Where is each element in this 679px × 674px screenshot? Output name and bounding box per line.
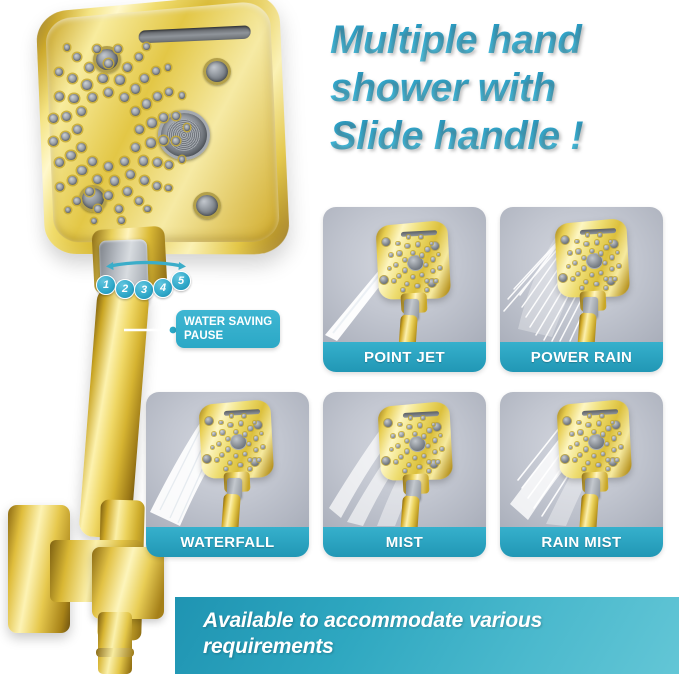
mini-nozzle-hole-icon (261, 445, 265, 449)
mini-nozzle-hole-icon (606, 426, 610, 430)
mini-nozzle-hole-icon (417, 465, 421, 469)
infographic-canvas: Multiple hand shower with Slide handle ! (0, 0, 679, 674)
mini-nozzle-hole-icon (427, 469, 431, 473)
headline-line-3: Slide handle ! (330, 112, 675, 160)
nozzle-hole-icon (118, 217, 125, 224)
mini-nozzle-hole-icon (389, 253, 393, 257)
nozzle-hole-icon (49, 137, 58, 146)
mini-nozzle-hole-icon (224, 467, 228, 471)
mini-nozzle-hole-icon (243, 432, 247, 436)
mini-nozzle-hole-icon (396, 242, 400, 246)
nozzle-hole-icon (165, 64, 172, 71)
nozzle-hole-icon (140, 74, 149, 83)
mode-card-mist[interactable]: MIST (323, 392, 486, 557)
mini-nozzle-hole-icon (392, 279, 396, 283)
mini-nozzle-hole-icon (242, 414, 246, 418)
water-saving-pause-label: WATER SAVING PAUSE (176, 310, 280, 348)
nozzle-hole-icon (172, 112, 180, 120)
nozzle-hole-icon (68, 176, 77, 185)
mini-nozzle-hole-icon (600, 414, 604, 418)
nozzle-hole-icon (64, 44, 71, 51)
water-saving-connector-line (122, 326, 180, 334)
mode-card-point-jet[interactable]: POINT JET (323, 207, 486, 372)
mode-card-power-rain[interactable]: POWER RAIN (500, 207, 663, 372)
nozzle-hole-icon (77, 107, 86, 116)
mini-nozzle-hole-icon (595, 240, 599, 244)
mini-nozzle-hole-icon (577, 421, 581, 425)
mini-nozzle-hole-icon (436, 460, 440, 464)
mini-nozzle-hole-icon (613, 277, 617, 281)
mode-card-label-waterfall: WATERFALL (146, 527, 309, 557)
mini-nozzle-hole-icon (576, 249, 580, 253)
mini-nozzle-hole-icon (575, 240, 579, 244)
nozzle-hole-icon (85, 63, 94, 72)
mode-card-label-rain-mist: RAIN MIST (500, 527, 663, 557)
nozzle-hole-icon (66, 151, 76, 161)
mini-nozzle-hole-icon (254, 436, 258, 440)
mini-nozzle-hole-icon (419, 235, 423, 239)
headline-line-1: Multiple hand (330, 16, 675, 64)
mode-card-image-point-jet (323, 207, 486, 342)
mini-nozzle-hole-icon (425, 288, 429, 292)
mini-nozzle-hole-icon (573, 458, 577, 462)
mini-nozzle-hole-icon (248, 426, 252, 430)
mini-nozzle-hole-icon (599, 251, 603, 255)
mini-nozzle-hole-icon (427, 428, 431, 432)
nozzle-hole-icon (143, 43, 150, 50)
mini-nozzle-hole-icon (403, 469, 407, 473)
jet-nozzle-top-right-icon (203, 58, 231, 85)
nozzle-hole-icon (69, 94, 79, 104)
nozzle-hole-icon (139, 156, 149, 166)
mini-nozzle-hole-icon (434, 279, 438, 283)
mini-nozzle-hole-icon (397, 251, 401, 255)
nozzle-hole-icon (120, 157, 129, 166)
nozzle-hole-icon (82, 80, 92, 90)
mini-nozzle-hole-icon (570, 432, 574, 436)
mode-number-5: 5 (171, 271, 191, 291)
nozzle-hole-icon (135, 53, 143, 61)
nozzle-hole-icon (179, 92, 186, 99)
mini-nozzle-hole-icon (440, 447, 444, 451)
mini-nozzle-hole-icon (578, 430, 582, 434)
mini-nozzle-hole-icon (391, 434, 395, 438)
nozzle-hole-icon (153, 182, 161, 190)
nozzle-hole-icon (165, 185, 172, 192)
mini-nozzle-hole-icon (399, 432, 403, 436)
mini-nozzle-hole-icon (415, 284, 419, 288)
mode-card-image-power-rain (500, 207, 663, 342)
nozzle-hole-icon (49, 114, 58, 123)
mini-nozzle-hole-icon (606, 467, 610, 471)
nozzle-hole-icon (93, 45, 101, 53)
mini-nozzle-hole-icon (425, 247, 429, 251)
nozzle-hole-icon (110, 176, 120, 186)
mini-nozzle-hole-icon (596, 463, 600, 467)
mode-card-rain-mist[interactable]: RAIN MIST (500, 392, 663, 557)
nozzle-hole-icon (131, 107, 140, 116)
mini-nozzle-hole-icon (568, 251, 572, 255)
mini-nozzle-hole-icon (586, 423, 590, 427)
mini-nozzle-hole-icon (438, 266, 442, 270)
mini-nozzle-hole-icon (597, 421, 601, 425)
mode-card-label-power-rain: POWER RAIN (500, 342, 663, 372)
mini-nozzle-hole-icon (219, 421, 223, 425)
nozzle-hole-icon (140, 176, 149, 185)
nozzle-hole-icon (146, 138, 156, 148)
nozzle-hole-icon (104, 59, 113, 68)
page-title: Multiple hand shower with Slide handle ! (330, 16, 675, 160)
mini-nozzle-hole-icon (594, 282, 598, 286)
mode-number-2: 2 (115, 279, 135, 299)
bottom-banner-text: Available to accommodate various require… (203, 608, 653, 660)
water-saving-line-1: WATER SAVING (184, 316, 280, 330)
mini-nozzle-hole-icon (418, 423, 422, 427)
mini-nozzle-hole-icon (422, 434, 426, 438)
mode-card-waterfall[interactable]: WATERFALL (146, 392, 309, 557)
mode-card-image-waterfall (146, 392, 309, 527)
mini-nozzle-hole-icon (582, 467, 586, 471)
mini-nozzle-hole-icon (619, 445, 623, 449)
nozzle-hole-icon (153, 92, 162, 101)
nozzle-hole-icon (153, 158, 162, 167)
headline-line-2: shower with (330, 64, 675, 112)
mini-nozzle-hole-icon (407, 425, 411, 429)
mini-nozzle-hole-icon (220, 430, 224, 434)
nozzle-hole-icon (94, 205, 102, 213)
mini-nozzle-hole-icon (215, 458, 219, 462)
mini-nozzle-hole-icon (401, 288, 405, 292)
mini-nozzle-hole-icon (257, 458, 261, 462)
mini-nozzle-hole-icon (612, 436, 616, 440)
bottom-banner-line-1: Available to accommodate various (203, 608, 653, 634)
mini-nozzle-hole-icon (601, 432, 605, 436)
mini-nozzle-hole-icon (394, 460, 398, 464)
nozzle-hole-icon (98, 74, 108, 84)
nozzle-hole-icon (73, 53, 81, 61)
mini-nozzle-hole-icon (584, 242, 588, 246)
nozzle-hole-icon (184, 124, 191, 131)
mini-nozzle-hole-icon (604, 286, 608, 290)
mini-nozzle-hole-icon (610, 255, 614, 259)
nozzle-hole-icon (56, 183, 64, 191)
nozzle-hole-icon (131, 84, 141, 94)
mini-nozzle-hole-icon (228, 423, 232, 427)
hose-fitting (98, 612, 132, 674)
mode-card-image-mist (323, 392, 486, 527)
bottom-banner: Available to accommodate various require… (175, 597, 679, 674)
nozzle-hole-icon (165, 88, 173, 96)
mini-nozzle-hole-icon (598, 233, 602, 237)
shower-head-face (32, 2, 282, 254)
mini-nozzle-hole-icon (398, 423, 402, 427)
mode-number-1: 1 (96, 275, 116, 295)
mini-nozzle-hole-icon (239, 421, 243, 425)
mini-nozzle-hole-icon (580, 286, 584, 290)
mode-number-callouts: 1 2 3 4 5 (96, 269, 200, 293)
nozzle-hole-icon (120, 93, 129, 102)
mini-nozzle-hole-icon (571, 277, 575, 281)
mini-nozzle-hole-icon (420, 253, 424, 257)
nozzle-hole-icon (142, 99, 152, 109)
mode-card-image-rain-mist (500, 392, 663, 527)
mode-card-label-point-jet: POINT JET (323, 342, 486, 372)
mini-nozzle-hole-icon (617, 264, 621, 268)
mode-number-3: 3 (134, 280, 154, 300)
mini-nozzle-hole-icon (405, 244, 409, 248)
nozzle-hole-icon (73, 125, 82, 134)
water-saving-line-2: PAUSE (184, 330, 280, 344)
nozzle-hole-icon (123, 63, 132, 72)
hose-ring (96, 648, 134, 657)
nozzle-hole-icon (104, 162, 113, 171)
mode-number-4: 4 (153, 278, 173, 298)
wall-mount-cuff (92, 547, 164, 619)
mini-nozzle-hole-icon (604, 245, 608, 249)
mini-nozzle-hole-icon (431, 257, 435, 261)
mini-nozzle-hole-icon (433, 438, 437, 442)
nozzle-hole-icon (115, 205, 123, 213)
mode-card-label-mist: MIST (323, 527, 486, 557)
mini-nozzle-hole-icon (238, 463, 242, 467)
mini-nozzle-hole-icon (615, 458, 619, 462)
mini-nozzle-hole-icon (248, 467, 252, 471)
mini-nozzle-hole-icon (421, 416, 425, 420)
bottom-banner-line-2: requirements (203, 634, 653, 660)
nozzle-hole-icon (115, 75, 125, 85)
jet-nozzle-bottom-right-icon (193, 192, 221, 219)
mini-nozzle-hole-icon (416, 242, 420, 246)
mini-nozzle-hole-icon (212, 432, 216, 436)
nozzle-hole-icon (147, 118, 157, 128)
